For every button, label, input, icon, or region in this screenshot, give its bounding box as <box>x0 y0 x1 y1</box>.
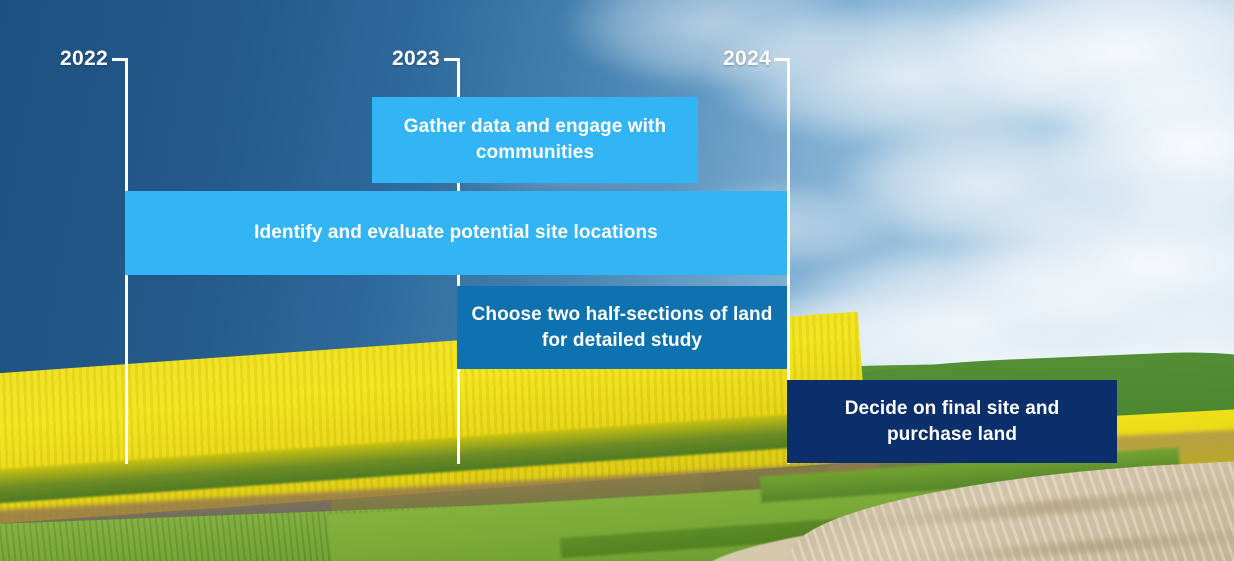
year-label-2023: 2023 <box>392 47 440 71</box>
phase-bar-label: Gather data and engage with communities <box>386 114 684 165</box>
year-label-2022: 2022 <box>60 47 108 71</box>
year-tick-2022 <box>112 58 126 61</box>
year-tick-2024 <box>774 58 788 61</box>
phase-bar-identify-sites: Identify and evaluate potential site loc… <box>125 191 787 275</box>
background-photo <box>0 0 1234 561</box>
year-label-2024: 2024 <box>723 47 771 71</box>
phase-bar-gather-data: Gather data and engage with communities <box>372 97 698 183</box>
phase-bar-decide-purchase: Decide on final site and purchase land <box>787 380 1117 463</box>
year-tick-2023 <box>444 58 458 61</box>
phase-bar-label: Choose two half-sections of land for det… <box>471 302 773 353</box>
phase-bar-label: Decide on final site and purchase land <box>801 396 1103 447</box>
timeline-infographic: 202220232024 Gather data and engage with… <box>0 0 1234 561</box>
phase-bar-choose-half-sections: Choose two half-sections of land for det… <box>457 286 787 369</box>
phase-bar-label: Identify and evaluate potential site loc… <box>254 220 658 246</box>
